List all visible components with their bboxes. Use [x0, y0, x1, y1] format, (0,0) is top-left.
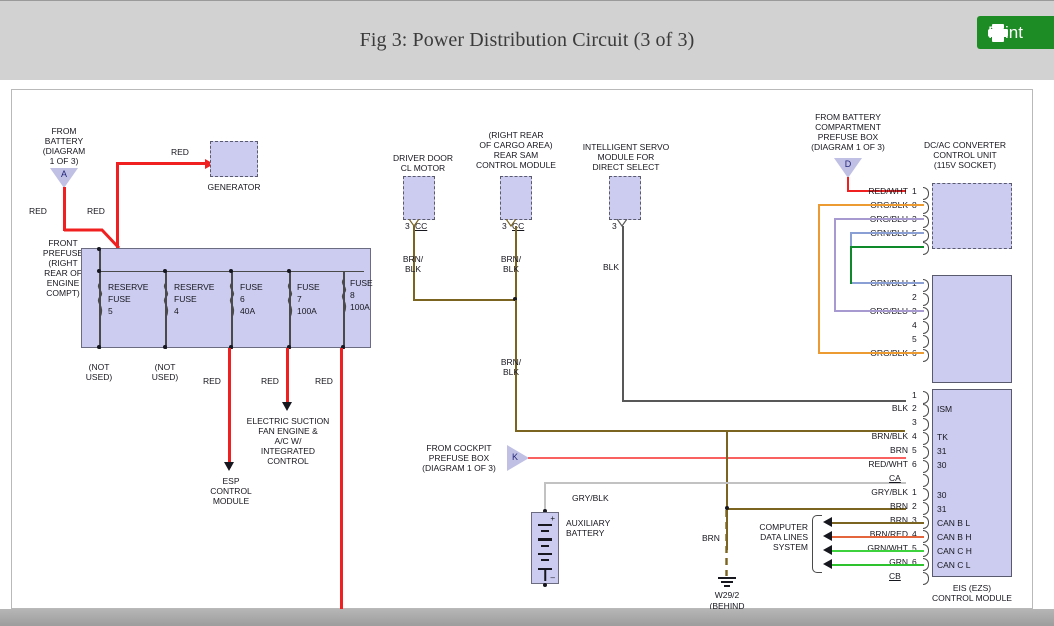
connector-k-id: K [509, 452, 521, 462]
eis-connector-ca-id: CA [889, 473, 901, 483]
wire-gryblk-h [544, 482, 906, 484]
fuse-1-line1: RESERVE [108, 282, 148, 292]
wire-label-blk-servo: BLK [603, 262, 619, 272]
fuse-2-line1: RESERVE [174, 282, 214, 292]
computer-data-lines-label: COMPUTER DATA LINES SYSTEM [734, 522, 808, 552]
socket-pin-3-bracket [923, 307, 929, 320]
intelligent-servo-box[interactable] [609, 176, 641, 220]
arrow-canch [823, 545, 832, 555]
eis-ca-pin-6-bracket [923, 460, 929, 473]
eis-ezs-label: EIS (EZS) CONTROL MODULE [917, 583, 1027, 603]
eis-ca-pin-5-num: 5 [912, 445, 917, 455]
connector-a-caption: FROM BATTERY (DIAGRAM 1 OF 3) [24, 126, 104, 166]
socket-pin-4-bracket [923, 321, 929, 334]
arrow-canbh [823, 531, 832, 541]
fuse-2-note: (NOT USED) [140, 362, 190, 382]
wire-grnblu-pin5-upper [850, 232, 924, 234]
diagram-canvas: FROM BATTERY (DIAGRAM 1 OF 3) A RED RED … [11, 89, 1033, 609]
intelligent-servo-label: INTELLIGENT SERVO MODULE FOR DIRECT SELE… [567, 142, 685, 172]
arrow-fan [282, 402, 292, 411]
wire-orgblu-socket3 [834, 310, 924, 312]
wire-grn-cancl [832, 564, 924, 566]
computer-data-lines-brace [812, 515, 822, 573]
esp-control-module-label: ESP CONTROL MODULE [196, 476, 266, 506]
eis-connector-cb-id: CB [889, 571, 901, 581]
fuse-symbol-4 [285, 283, 295, 317]
connector-a-icon[interactable]: A [50, 168, 78, 188]
fuse-5-line1: FUSE [350, 278, 373, 288]
socket-pin-5-num: 5 [912, 334, 917, 344]
wire-grn-link-v [850, 246, 852, 284]
eis-ca-pin-4-label: BRN/BLK [845, 431, 908, 441]
fuse-1-line3: 5 [108, 306, 113, 316]
dcac-converter-label: DC/AC CONVERTER CONTROL UNIT (115V SOCKE… [901, 140, 1029, 170]
print-button-label: Print [988, 28, 1023, 38]
socket-pin-1-bracket [923, 279, 929, 292]
socket-pin-6-bracket [923, 349, 929, 362]
auxiliary-battery-label: AUXILIARY BATTERY [566, 518, 610, 538]
eis-cb-pin-1-num: 1 [912, 487, 917, 497]
page-header: Fig 3: Power Distribution Circuit (3 of … [0, 0, 1054, 80]
eis-ca-pin-1-bracket [923, 391, 929, 404]
wire-blk-to-eis [622, 400, 906, 402]
connector-k-icon[interactable]: K [507, 445, 529, 471]
fuse-5-line3: 100A [350, 302, 370, 312]
fuse-symbol-3 [227, 283, 237, 317]
socket-pin-2-num: 2 [912, 292, 917, 302]
eis-cb-pin-2-num: 2 [912, 501, 917, 511]
print-button[interactable]: Print [977, 16, 1054, 49]
fuse-symbol-5 [339, 279, 349, 313]
eis-ca-pin-3-num: 3 [912, 417, 917, 427]
wire-red-d-v [847, 177, 849, 191]
eis-cb-pin-5-fn: CAN C H [937, 546, 972, 556]
socket-115v-box[interactable] [932, 275, 1012, 383]
fuse-3-line3: 40A [240, 306, 255, 316]
eis-cb-pin-4-fn: CAN B H [937, 532, 971, 542]
wire-orgblk-socket6 [818, 352, 924, 354]
connector-d-id: D [834, 159, 862, 169]
wire-label-brnblk-down: BRN/ BLK [491, 357, 531, 377]
wire-label-red-long: RED [315, 376, 333, 386]
wire-brnred-canbh [832, 536, 924, 538]
wire-grnblu-socket1 [850, 282, 924, 284]
rear-sam-label: (RIGHT REAR OF CARGO AREA) REAR SAM CONT… [462, 130, 570, 170]
eis-cb-pin-2-fn: 31 [937, 504, 946, 514]
eis-ca-bracket-end [923, 474, 929, 487]
page-title: Fig 3: Power Distribution Circuit (3 of … [0, 29, 1054, 52]
fuse-4-line3: 100A [297, 306, 317, 316]
fuse-1-note: (NOT USED) [74, 362, 124, 382]
wire-label-red-1: RED [29, 206, 47, 216]
eis-ca-pin-2-fn: ISM [937, 404, 952, 414]
wire-label-brnblk-sam: BRN/ BLK [491, 254, 531, 274]
eis-ca-pin-6-label: RED/WHT [845, 459, 908, 469]
fuse-5-line2: 8 [350, 290, 355, 300]
eis-cb-pin-3-fn: CAN B L [937, 518, 970, 528]
connector-a-id: A [50, 169, 78, 179]
connector-d-caption: FROM BATTERY COMPARTMENT PREFUSE BOX (DI… [788, 112, 908, 152]
eis-ca-pin-1-num: 1 [912, 390, 917, 400]
fuse-3-line2: 6 [240, 294, 245, 304]
wire-orgblu-pin3 [834, 218, 924, 220]
wire-redwht-k-h [528, 457, 728, 459]
fuse-1-line2: FUSE [108, 294, 131, 304]
eis-cb-pin-6-fn: CAN C L [937, 560, 971, 570]
eis-ca-pin-2-bracket [923, 404, 929, 417]
eis-cb-pin-1-label: GRY/BLK [845, 487, 908, 497]
eis-ca-pin-4-bracket [923, 432, 929, 445]
bus-dot-b2 [163, 345, 167, 349]
auxiliary-battery-symbol[interactable]: + – [531, 512, 559, 584]
wire-grnwht-canch [832, 550, 924, 552]
eis-cb-pin-1-fn: 30 [937, 490, 946, 500]
connector-d-icon[interactable]: D [834, 158, 862, 178]
fuse-symbol-2 [161, 283, 171, 317]
wire-orgblk-link-v [818, 204, 820, 354]
ground-w29-2-label: W29/2 [697, 590, 757, 600]
wire-red-generator-h [116, 162, 208, 165]
eis-cb-pin-2-label: BRN [845, 501, 908, 511]
dcac-pin-5-bracket [923, 242, 929, 255]
generator-box[interactable] [210, 141, 258, 177]
eis-ca-pin-5-fn: 31 [937, 446, 946, 456]
dcac-pin-1-num: 1 [912, 186, 917, 196]
eis-cb-pin-2-bracket [923, 502, 929, 515]
driver-door-cl-motor-label: DRIVER DOOR CL MOTOR [380, 153, 466, 173]
fuse-4-line2: 7 [297, 294, 302, 304]
wire-gryblk-v [544, 482, 546, 511]
arrow-canbl [823, 517, 832, 527]
wire-red-generator-v [116, 162, 119, 250]
eis-ca-pin-5-bracket [923, 446, 929, 459]
wire-red-fan [286, 348, 289, 406]
socket-pin-5-bracket [923, 335, 929, 348]
eis-ca-pin-5-label: BRN [845, 445, 908, 455]
diagram-page: Fig 3: Power Distribution Circuit (3 of … [0, 0, 1054, 626]
eis-ca-pin-4-num: 4 [912, 431, 917, 441]
wire-label-brn-ground: BRN [702, 533, 720, 543]
wire-red-long [340, 348, 343, 610]
bus-dot-4 [287, 269, 291, 273]
eis-cb-pin-1-bracket [923, 488, 929, 501]
dcac-pin-2-bracket [923, 201, 929, 214]
fuse-2-line3: 4 [174, 306, 179, 316]
battery-neg-dot [543, 583, 547, 587]
page-footer-strip [0, 609, 1054, 626]
wire-label-red-generator: RED [171, 147, 189, 157]
fuse-3-line1: FUSE [240, 282, 263, 292]
driver-door-cl-motor-box[interactable] [403, 176, 435, 220]
eis-ca-pin-2-num: 2 [912, 403, 917, 413]
wire-orgblk-pin8 [818, 204, 924, 206]
wire-blk-servo-v [622, 226, 624, 401]
bus-dot-2 [163, 269, 167, 273]
generator-label: GENERATOR [202, 182, 266, 192]
eis-ca-pin-2-label: BLK [852, 403, 908, 413]
prefuse-input-dot [97, 247, 101, 251]
dcac-pin-1-bracket [923, 187, 929, 200]
wire-brn-dashed-ground [725, 510, 728, 576]
eis-ca-pin-6-num: 6 [912, 459, 917, 469]
arrow-cancl [823, 559, 832, 569]
eis-ca-pin-6-fn: 30 [937, 460, 946, 470]
dcac-pin-3-bracket [923, 215, 929, 228]
socket-pin-4-num: 4 [912, 320, 917, 330]
bus-dot-1 [97, 269, 101, 273]
dcac-pin-4-bracket [923, 229, 929, 242]
dcac-converter-box[interactable] [932, 183, 1012, 249]
socket-pin-2-bracket [923, 293, 929, 306]
wire-orgblu-link-v [834, 218, 836, 312]
wire-brnblk-door-h [413, 299, 516, 301]
fuse-4-line1: FUSE [297, 282, 320, 292]
electric-suction-fan-label: ELECTRIC SUCTION FAN ENGINE & A/C W/ INT… [233, 416, 343, 466]
rear-sam-box[interactable] [500, 176, 532, 220]
fuse-symbol-1 [95, 283, 105, 317]
eis-ca-pin-3-bracket [923, 418, 929, 431]
bus-dot-3 [229, 269, 233, 273]
connector-k-caption: FROM COCKPIT PREFUSE BOX (DIAGRAM 1 OF 3… [413, 443, 505, 473]
wire-brn-canbl [832, 522, 924, 524]
wire-label-red-esp: RED [203, 376, 221, 386]
wire-label-red-2: RED [87, 206, 105, 216]
wire-red-a [63, 187, 66, 231]
wire-label-red-fan: RED [261, 376, 279, 386]
fuse-2-line2: FUSE [174, 294, 197, 304]
wire-red-esp [228, 348, 231, 468]
wire-label-gryblk: GRY/BLK [572, 493, 609, 503]
wire-label-brnblk-door: BRN/ BLK [393, 254, 433, 274]
bus-dot-b1 [97, 345, 101, 349]
dcac-pin-1-label: RED/WHT [854, 186, 908, 196]
wire-grnblu-pin5-lower [850, 246, 924, 248]
eis-ca-pin-4-fn: TK [937, 432, 948, 442]
